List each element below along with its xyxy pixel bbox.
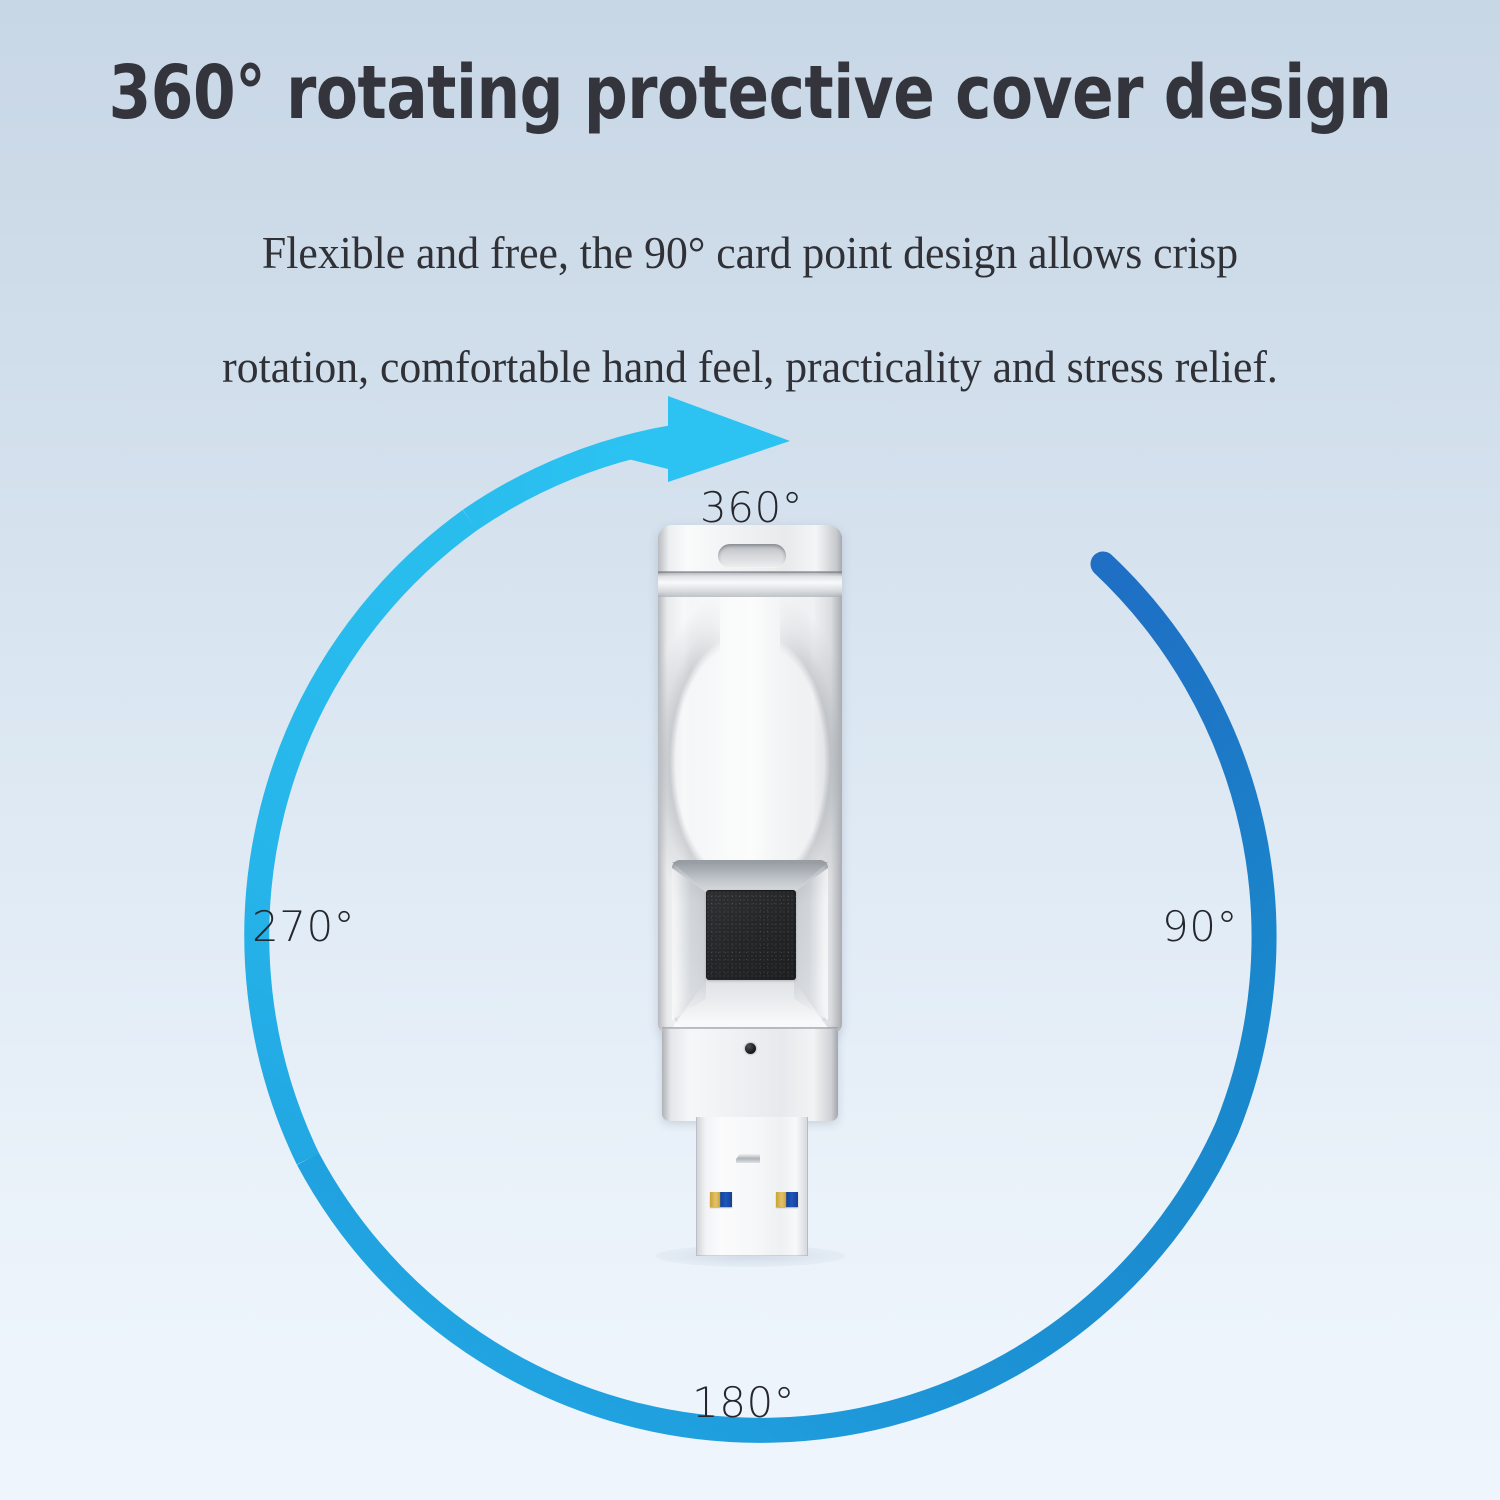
- fingerprint-sensor-pad[interactable]: [706, 890, 796, 980]
- degree-label-270: 270°: [252, 902, 355, 951]
- usb-a-connector: [696, 1117, 808, 1256]
- lanyard-slot-hole: [718, 544, 786, 568]
- usb-contact-pad-left: [710, 1192, 732, 1207]
- cover-hinge-seam-line: [658, 571, 842, 573]
- rotation-arrow-icon: [668, 396, 790, 482]
- status-led-indicator-icon: [745, 1043, 756, 1054]
- arc-segment-90: [1103, 564, 1264, 1128]
- arc-segment-270: [257, 520, 470, 1159]
- product-infographic-poster: 360° rotating protective cover design Fl…: [0, 0, 1500, 1500]
- degree-label-90: 90°: [1162, 902, 1238, 951]
- usb-contact-pad-right: [776, 1192, 798, 1207]
- usb-connector-notch: [736, 1153, 760, 1163]
- usb-flash-drive-product: [650, 525, 850, 1260]
- degree-label-180: 180°: [692, 1378, 795, 1427]
- cover-hinge-seam-band: [658, 572, 842, 597]
